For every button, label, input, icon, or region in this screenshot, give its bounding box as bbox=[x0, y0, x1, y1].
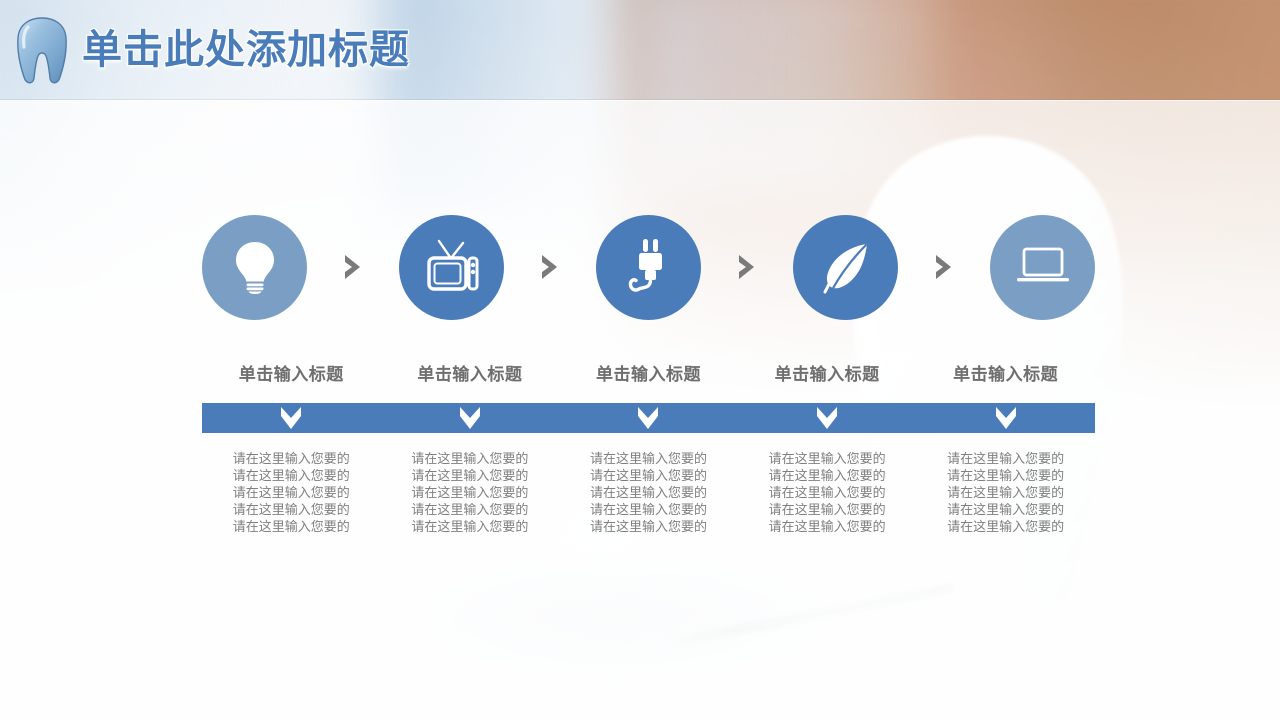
process-node-3[interactable] bbox=[596, 215, 701, 320]
step-body-5: 请在这里输入您要的 请在这里输入您要的 请在这里输入您要的 请在这里输入您要的 … bbox=[916, 450, 1095, 535]
step-body-2: 请在这里输入您要的 请在这里输入您要的 请在这里输入您要的 请在这里输入您要的 … bbox=[381, 450, 560, 535]
step-title-5: 单击输入标题 bbox=[916, 360, 1095, 385]
step-bodies-row: 请在这里输入您要的 请在这里输入您要的 请在这里输入您要的 请在这里输入您要的 … bbox=[202, 450, 1095, 535]
chevron-right-icon-3 bbox=[736, 254, 758, 280]
bar-cell-4 bbox=[738, 403, 917, 433]
header-divider bbox=[0, 100, 1280, 101]
step-body-4: 请在这里输入您要的 请在这里输入您要的 请在这里输入您要的 请在这里输入您要的 … bbox=[738, 450, 917, 535]
television-icon bbox=[423, 239, 481, 295]
bar-cell-5 bbox=[916, 403, 1095, 433]
step-titles-row: 单击输入标题 单击输入标题 单击输入标题 单击输入标题 单击输入标题 bbox=[202, 360, 1095, 385]
process-node-4[interactable] bbox=[793, 215, 898, 320]
step-title-2: 单击输入标题 bbox=[381, 360, 560, 385]
chevron-down-icon-4 bbox=[815, 405, 839, 431]
chevron-down-icon-2 bbox=[458, 405, 482, 431]
blurred-dental-instrument bbox=[430, 560, 900, 690]
step-title-1: 单击输入标题 bbox=[202, 360, 381, 385]
power-plug-icon bbox=[624, 237, 674, 297]
chevron-down-icon-1 bbox=[279, 405, 303, 431]
chevron-right-icon-4 bbox=[933, 254, 955, 280]
chevron-right-icon-2 bbox=[539, 254, 561, 280]
leaf-icon bbox=[819, 240, 873, 294]
chevron-down-icon-5 bbox=[994, 405, 1018, 431]
slide-canvas: 单击此处添加标题 bbox=[0, 0, 1280, 720]
process-node-5[interactable] bbox=[990, 215, 1095, 320]
slide-header: 单击此处添加标题 bbox=[0, 0, 1280, 100]
process-node-2[interactable] bbox=[399, 215, 504, 320]
lightbulb-icon bbox=[230, 240, 280, 294]
step-title-3: 单击输入标题 bbox=[559, 360, 738, 385]
bar-cell-3 bbox=[559, 403, 738, 433]
bar-cell-2 bbox=[381, 403, 560, 433]
accent-bar bbox=[202, 403, 1095, 433]
step-body-3: 请在这里输入您要的 请在这里输入您要的 请在这里输入您要的 请在这里输入您要的 … bbox=[559, 450, 738, 535]
tooth-icon bbox=[14, 15, 70, 89]
chevron-right-icon-1 bbox=[342, 254, 364, 280]
chevron-down-icon-3 bbox=[636, 405, 660, 431]
step-body-1: 请在这里输入您要的 请在这里输入您要的 请在这里输入您要的 请在这里输入您要的 … bbox=[202, 450, 381, 535]
process-row bbox=[202, 212, 1095, 322]
step-title-4: 单击输入标题 bbox=[738, 360, 917, 385]
bar-cell-1 bbox=[202, 403, 381, 433]
page-title: 单击此处添加标题 bbox=[82, 30, 410, 70]
process-node-1[interactable] bbox=[202, 215, 307, 320]
laptop-icon bbox=[1015, 246, 1071, 288]
